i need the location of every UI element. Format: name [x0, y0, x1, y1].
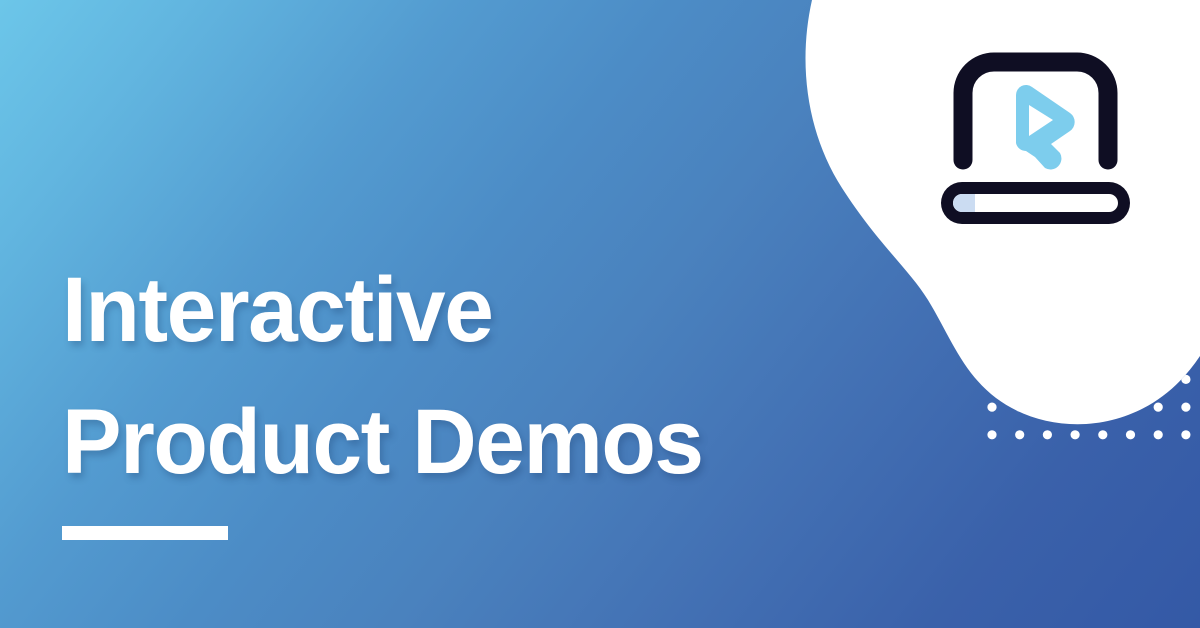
- headline-line-2: Product Demos: [62, 376, 703, 508]
- progress-bar-track: [953, 194, 1118, 212]
- promo-banner: Interactive Product Demos: [0, 0, 1200, 628]
- headline-block: Interactive Product Demos: [62, 244, 722, 540]
- progress-bar-fill: [953, 194, 975, 212]
- accent-underline-bar: [62, 526, 228, 540]
- headline-line-1: Interactive: [62, 244, 703, 376]
